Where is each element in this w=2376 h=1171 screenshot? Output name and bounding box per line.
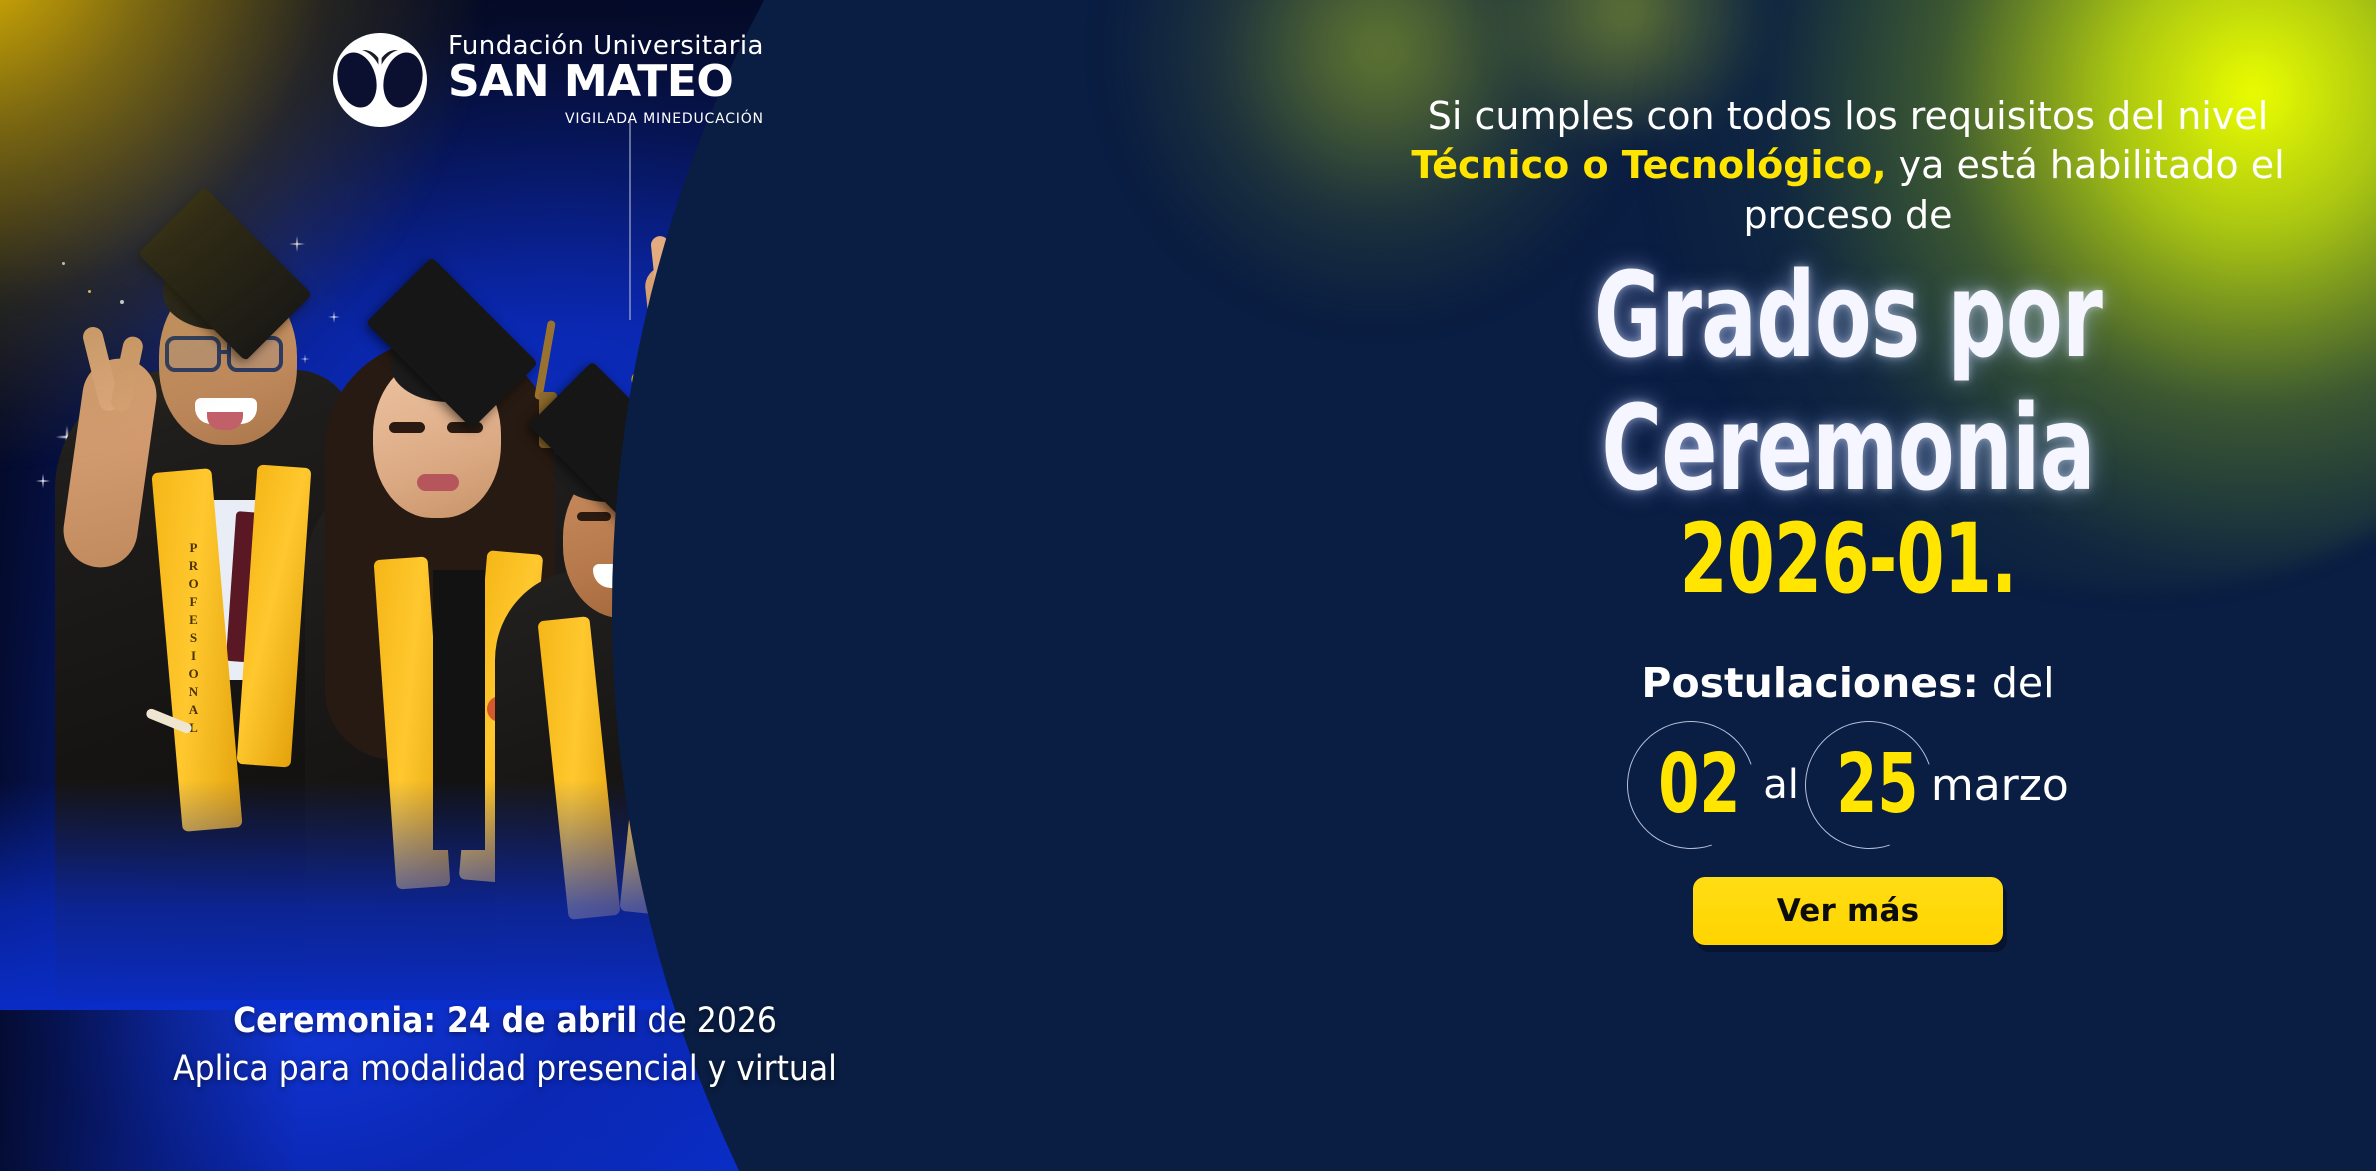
promo-intro: Si cumples con todos los requisitos del … xyxy=(1320,92,2376,240)
san-mateo-butterfly-logo-icon xyxy=(330,30,430,130)
promo-headline-line-1: Grados por xyxy=(1436,258,2260,372)
date-separator: al xyxy=(1759,762,1801,808)
promo-intro-part1: Si cumples con todos los requisitos del … xyxy=(1428,94,2269,138)
application-date-range: 02 al 25 marzo xyxy=(1320,721,2376,849)
ver-mas-button[interactable]: Ver más xyxy=(1693,877,2003,945)
date-month: marzo xyxy=(1931,760,2069,811)
date-end-number: 25 xyxy=(1836,744,1918,826)
left-footer-captions: Ceremonia: 24 de abril de 2026 Aplica pa… xyxy=(0,1000,1010,1092)
ceremony-date-line: Ceremonia: 24 de abril de 2026 xyxy=(0,1000,1010,1044)
brand-logo-text: Fundación Universitaria SAN MATEO VIGILA… xyxy=(448,33,764,126)
applications-label-rest: del xyxy=(1979,659,2055,707)
sparkle-star-icon xyxy=(32,470,54,492)
modality-line: Aplica para modalidad presencial y virtu… xyxy=(0,1048,1010,1092)
brand-logo[interactable]: Fundación Universitaria SAN MATEO VIGILA… xyxy=(330,30,764,130)
date-end-badge: 25 xyxy=(1805,721,1933,849)
brand-line-2: SAN MATEO xyxy=(448,59,764,105)
promo-banner: PROFESIONAL xyxy=(0,0,2376,1171)
stole-text: PROFESIONAL xyxy=(185,540,201,738)
promo-headline-year: 2026-01. xyxy=(1426,511,2271,607)
ceremony-date-strong: Ceremonia: 24 de abril xyxy=(233,1001,637,1041)
promo-headline-line-2: Ceremonia xyxy=(1436,391,2260,505)
promo-intro-highlight: Técnico o Tecnológico, xyxy=(1411,143,1886,187)
applications-label: Postulaciones: del xyxy=(1320,659,2376,707)
applications-label-strong: Postulaciones: xyxy=(1641,659,1978,707)
date-start-number: 02 xyxy=(1658,744,1740,826)
ceremony-date-rest: de 2026 xyxy=(637,1001,777,1041)
brand-line-3: VIGILADA MINEDUCACIÓN xyxy=(448,111,764,127)
date-start-badge: 02 xyxy=(1627,721,1755,849)
promo-panel: Si cumples con todos los requisitos del … xyxy=(1320,0,2376,1171)
